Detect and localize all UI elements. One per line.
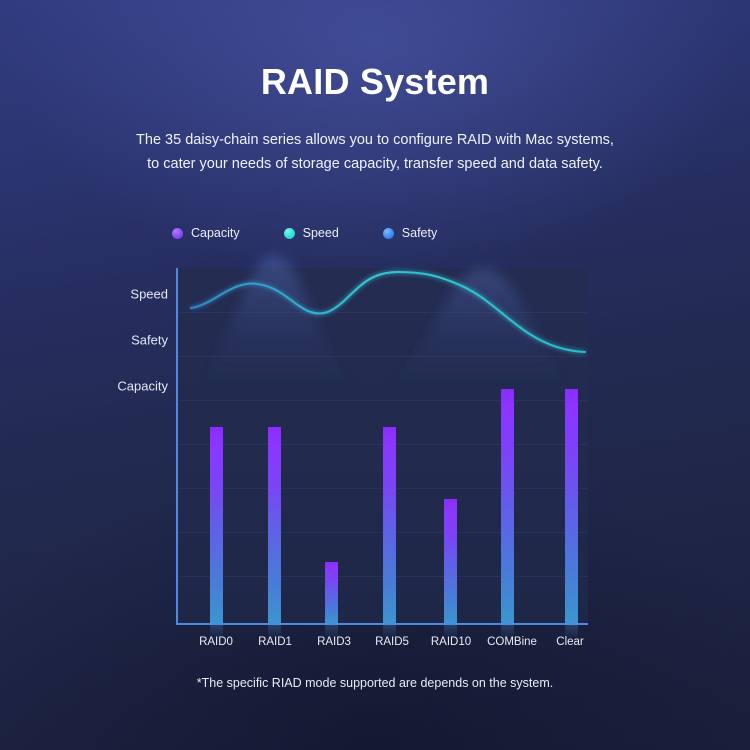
x-tick-raid10: RAID10 [431,636,471,648]
bar-raid10[interactable] [444,499,457,623]
x-tick-raid0: RAID0 [199,636,233,648]
x-tick-raid1: RAID1 [258,636,292,648]
bar-raid5[interactable] [383,427,396,623]
x-axis-labels: RAID0 RAID1 RAID3 RAID5 RAID10 COMBine C… [0,636,750,656]
x-tick-raid5: RAID5 [375,636,409,648]
raid-system-infographic: RAID System The 35 daisy-chain series al… [0,0,750,750]
bar-raid0[interactable] [210,427,223,623]
x-tick-clear: Clear [556,636,583,648]
x-tick-combine: COMBine [487,636,537,648]
bar-raid1[interactable] [268,427,281,623]
chart-footnote: *The specific RIAD mode supported are de… [0,676,750,690]
bar-clear[interactable] [565,389,578,623]
raid-bar-chart: Speed Safety Capacity [0,0,750,750]
bar-combine[interactable] [501,389,514,623]
x-tick-raid3: RAID3 [317,636,351,648]
bar-raid3[interactable] [325,562,338,623]
